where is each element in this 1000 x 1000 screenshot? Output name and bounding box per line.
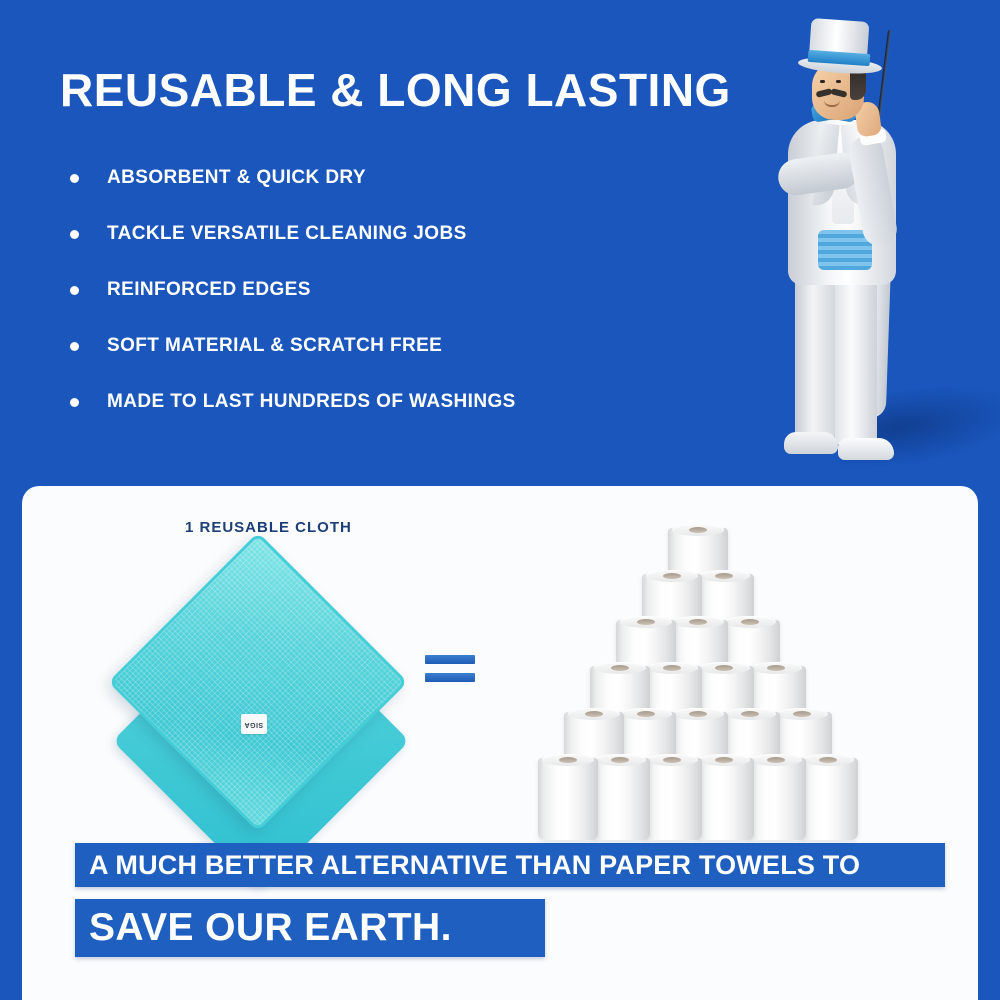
eye-left (820, 80, 825, 83)
feature-item: SOFT MATERIAL & SCRATCH FREE (62, 318, 682, 374)
page-title: REUSABLE & LONG LASTING (60, 63, 731, 117)
microfiber-cloth-image: SIGA (128, 548, 408, 800)
shoe-right (838, 438, 894, 460)
feature-item: TACKLE VERSATILE CLEANING JOBS (62, 206, 682, 262)
feature-label: TACKLE VERSATILE CLEANING JOBS (107, 223, 467, 245)
paper-towel-roll (538, 758, 598, 840)
paper-towel-roll (642, 758, 702, 840)
brand-tag-label: SIGA (244, 721, 263, 728)
shoe-left (784, 432, 838, 454)
paper-towel-stack-image (508, 528, 888, 813)
brand-tag: SIGA (241, 714, 267, 734)
feature-list: ABSORBENT & QUICK DRY TACKLE VERSATILE C… (62, 150, 682, 430)
bullet-dot-icon (70, 342, 79, 351)
hero-section: REUSABLE & LONG LASTING ABSORBENT & QUIC… (0, 0, 1000, 486)
feature-label: SOFT MATERIAL & SCRATCH FREE (107, 335, 442, 357)
bullet-dot-icon (70, 174, 79, 183)
eye-right (836, 80, 841, 83)
paper-towel-roll (798, 758, 858, 840)
leg-right (835, 263, 877, 445)
feature-label: ABSORBENT & QUICK DRY (107, 167, 366, 189)
bullet-dot-icon (70, 230, 79, 239)
footer-text-line-2: SAVE OUR EARTH. (89, 906, 452, 950)
feature-label: REINFORCED EDGES (107, 279, 311, 301)
towel-row (508, 758, 888, 820)
paper-towel-roll (694, 758, 754, 840)
footer-banner-line-2: SAVE OUR EARTH. (75, 899, 545, 957)
feature-item: MADE TO LAST HUNDREDS OF WASHINGS (62, 374, 682, 430)
feature-item: REINFORCED EDGES (62, 262, 682, 318)
footer-banner-line-1: A MUCH BETTER ALTERNATIVE THAN PAPER TOW… (75, 843, 945, 887)
equals-sign-icon (425, 655, 475, 687)
equals-bar-bottom (425, 673, 475, 682)
paper-towel-roll (590, 758, 650, 840)
bullet-dot-icon (70, 398, 79, 407)
mascot-illustration (740, 8, 990, 468)
cloth-caption: 1 REUSABLE CLOTH (185, 519, 352, 536)
feature-label: MADE TO LAST HUNDREDS OF WASHINGS (107, 391, 516, 413)
paper-towel-roll (746, 758, 806, 840)
bullet-dot-icon (70, 286, 79, 295)
equals-bar-top (425, 655, 475, 664)
feature-item: ABSORBENT & QUICK DRY (62, 150, 682, 206)
footer-text-line-1: A MUCH BETTER ALTERNATIVE THAN PAPER TOW… (89, 850, 860, 881)
leg-left (795, 263, 835, 441)
